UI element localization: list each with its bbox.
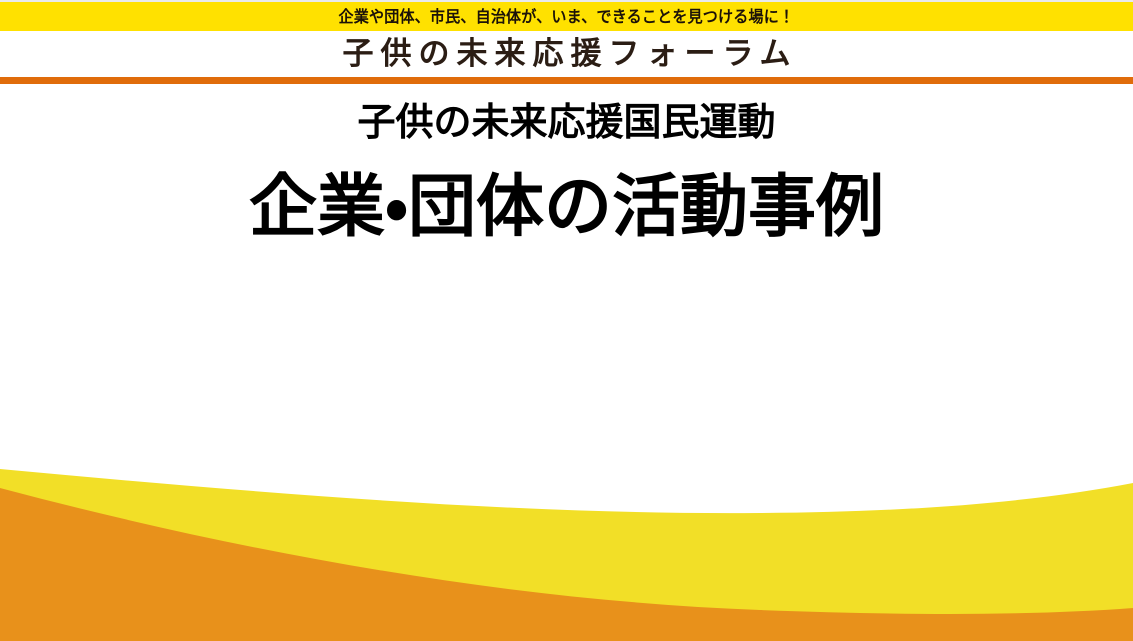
tagline-band: 企業や団体、市民、自治体が、いま、できることを見つける場に！ (0, 2, 1133, 31)
forum-title: 子供の未来応援フォーラム (335, 39, 797, 70)
tagline-text: 企業や団体、市民、自治体が、いま、できることを見つける場に！ (339, 9, 795, 25)
bottom-wave-decoration (0, 441, 1133, 641)
header-title-zone: 子供の未来応援フォーラム (0, 31, 1133, 77)
headline-title: 企業・団体の活動事例 (0, 167, 1133, 249)
wave-svg (0, 441, 1133, 641)
slide-canvas: 企業や団体、市民、自治体が、いま、できることを見つける場に！ 子供の未来応援フォ… (0, 0, 1133, 641)
wave-orange-band (0, 488, 1133, 641)
header-divider-rule (0, 77, 1133, 84)
headline-subtitle: 子供の未来応援国民運動 (0, 101, 1133, 145)
wave-yellow-band (0, 469, 1133, 623)
headline-block: 子供の未来応援国民運動 企業・団体の活動事例 (0, 101, 1133, 248)
